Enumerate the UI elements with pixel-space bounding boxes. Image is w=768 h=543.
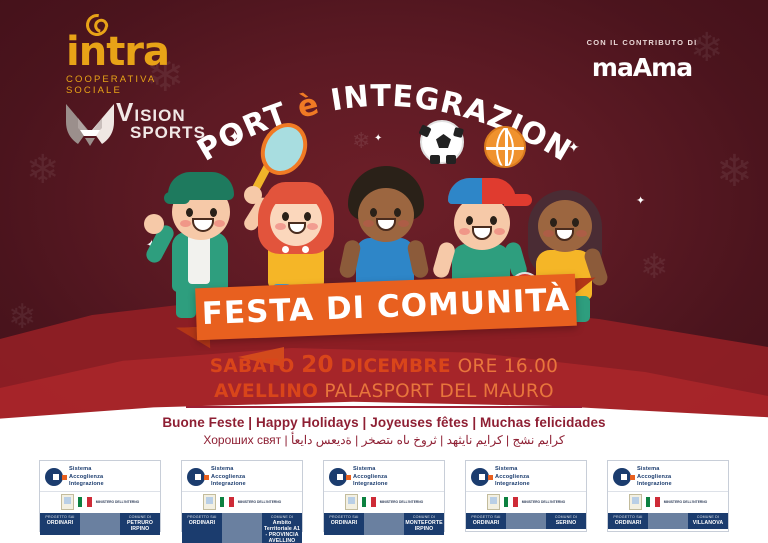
child-4-head xyxy=(454,196,510,250)
sai-card-footer: PROGETTO SAI ORDINARI COMUNE DI SERINO xyxy=(466,513,586,530)
sai-logo-icon xyxy=(329,468,349,488)
sai-project-value: ORDINARI xyxy=(325,520,363,526)
sai-project-label: PROGETTO SAI xyxy=(183,515,221,519)
sai-logo-icon xyxy=(613,468,633,488)
sai-title-2: Accoglienza xyxy=(211,474,246,482)
sai-comune-value: MONTEFORTE IRPINO xyxy=(405,520,443,532)
sai-comune-label: COMUNE DI xyxy=(121,515,159,519)
sai-comune-value: PETRURO IRPINO xyxy=(121,520,159,532)
child-1-beret-brim xyxy=(164,192,190,204)
child-1-eye xyxy=(210,208,217,217)
event-poster: ❄ ❄ ❄ ❄ ❄ ❄ ❄ ✦ ✦ ✦ ✦ ✦ intra COOPERATIV… xyxy=(0,0,768,543)
sai-comune-value: Ambito Territoriale A1 - PROVINCIA AVELL… xyxy=(263,520,301,543)
ministry-label: MINISTERO DELL'INTERNO xyxy=(380,500,423,504)
greetings-divider xyxy=(186,406,582,408)
certificate-icon xyxy=(61,494,74,510)
sai-comune-cell: COMUNE DI VILLANOVA xyxy=(688,513,728,530)
sai-title-2: Accoglienza xyxy=(637,474,672,482)
sai-comune-label: COMUNE DI xyxy=(547,515,585,519)
child-2-cheek xyxy=(307,223,318,230)
event-date-number: 20 xyxy=(301,352,334,378)
child-3-head xyxy=(358,188,414,242)
sai-card-emblems: MINISTERO DELL'INTERNO xyxy=(608,491,728,513)
sai-title-3: Integrazione xyxy=(353,481,388,489)
child-3-cheek xyxy=(363,220,374,227)
child-1-cheek xyxy=(180,220,191,227)
snowflake-icon: ❄ xyxy=(716,150,753,194)
sai-card: Sistema Accoglienza Integrazione MINISTE… xyxy=(181,460,303,532)
sai-project-cell: PROGETTO SAI ORDINARI xyxy=(324,513,364,536)
child-5-head xyxy=(538,200,592,252)
child-2-cheek xyxy=(275,223,286,230)
snowflake-icon: ❄ xyxy=(640,250,669,284)
child-1-shirt-panel xyxy=(188,234,210,284)
sai-card-emblems: MINISTERO DELL'INTERNO xyxy=(466,491,586,513)
star-icon: ✦ xyxy=(636,196,645,207)
soccer-ball-icon xyxy=(420,120,464,164)
italy-flag-icon xyxy=(504,497,518,507)
sai-title-1: Sistema xyxy=(69,466,104,474)
sai-card-title: Sistema Accoglienza Integrazione xyxy=(495,466,530,489)
sai-comune-cell: COMUNE DI PETRURO IRPINO xyxy=(120,513,160,536)
sai-project-value: ORDINARI xyxy=(183,520,221,526)
sai-card-header: Sistema Accoglienza Integrazione xyxy=(40,461,160,491)
sai-card-footer: PROGETTO SAI ORDINARI COMUNE DI Ambito T… xyxy=(182,513,302,543)
child-3-eye xyxy=(394,208,401,217)
child-5-eye xyxy=(550,218,557,227)
sai-card-header: Sistema Accoglienza Integrazione xyxy=(466,461,586,491)
sai-project-label: PROGETTO SAI xyxy=(609,515,647,519)
child-4-eye xyxy=(490,216,497,225)
sai-card: Sistema Accoglienza Integrazione MINISTE… xyxy=(465,460,587,532)
sai-comune-label: COMUNE DI xyxy=(689,515,727,519)
sai-project-cell: PROGETTO SAI ORDINARI xyxy=(608,513,648,530)
sai-comune-cell: COMUNE DI MONTEFORTE IRPINO xyxy=(404,513,444,536)
child-5-cheek xyxy=(543,230,554,237)
snowflake-icon: ❄ xyxy=(8,300,37,334)
sai-card: Sistema Accoglienza Integrazione MINISTE… xyxy=(39,460,161,532)
sai-title-3: Integrazione xyxy=(69,481,104,489)
event-date-line: SABATO 20 DICEMBRE ORE 16.00 xyxy=(0,352,768,378)
sai-project-cell: PROGETTO SAI ORDINARI xyxy=(466,513,506,530)
child-4-cheek xyxy=(459,228,470,235)
greetings-latin: Buone Feste | Happy Holidays | Joyeuses … xyxy=(0,415,768,430)
ministry-label: MINISTERO DELL'INTERNO xyxy=(96,500,139,504)
sai-title-3: Integrazione xyxy=(637,481,672,489)
event-venue: PALASPORT DEL MAURO xyxy=(318,381,554,402)
sai-card-title: Sistema Accoglienza Integrazione xyxy=(353,466,388,489)
sai-card: Sistema Accoglienza Integrazione MINISTE… xyxy=(323,460,445,532)
sai-card-header: Sistema Accoglienza Integrazione xyxy=(608,461,728,491)
sai-title-1: Sistema xyxy=(637,466,672,474)
sai-project-label: PROGETTO SAI xyxy=(41,515,79,519)
sai-title-2: Accoglienza xyxy=(69,474,104,482)
basketball-icon xyxy=(484,126,526,168)
event-details: SABATO 20 DICEMBRE ORE 16.00 AVELLINO PA… xyxy=(0,352,768,402)
sai-logo-icon xyxy=(187,468,207,488)
certificate-icon xyxy=(487,494,500,510)
child-2-eye xyxy=(304,212,311,221)
sai-comune-cell: COMUNE DI Ambito Territoriale A1 - PROVI… xyxy=(262,513,302,543)
sai-title-1: Sistema xyxy=(495,466,530,474)
child-5-cheek xyxy=(576,230,587,237)
sai-project-value: ORDINARI xyxy=(609,520,647,526)
sai-title-3: Integrazione xyxy=(211,481,246,489)
italy-flag-icon xyxy=(220,497,234,507)
sai-title-3: Integrazione xyxy=(495,481,530,489)
sai-comune-label: COMUNE DI xyxy=(263,515,301,519)
child-1-cheek xyxy=(214,220,225,227)
sai-title-2: Accoglienza xyxy=(495,474,530,482)
event-day: SABATO xyxy=(210,356,302,377)
event-venue-line: AVELLINO PALASPORT DEL MAURO xyxy=(0,381,768,402)
event-city: AVELLINO xyxy=(214,381,318,402)
sai-card-emblems: MINISTERO DELL'INTERNO xyxy=(182,491,302,513)
sai-comune-value: VILLANOVA xyxy=(689,520,727,526)
child-4-cheek xyxy=(494,228,505,235)
sai-card: Sistema Accoglienza Integrazione MINISTE… xyxy=(607,460,729,532)
sai-comune-cell: COMUNE DI SERINO xyxy=(546,513,586,530)
sai-project-label: PROGETTO SAI xyxy=(325,515,363,519)
sai-card-header: Sistema Accoglienza Integrazione xyxy=(182,461,302,491)
child-1-eye xyxy=(186,208,193,217)
certificate-icon xyxy=(629,494,642,510)
italy-flag-icon xyxy=(362,497,376,507)
sai-project-value: ORDINARI xyxy=(467,520,505,526)
italy-flag-icon xyxy=(646,497,660,507)
child-2-hand xyxy=(244,186,262,204)
sai-card-footer: PROGETTO SAI ORDINARI COMUNE DI PETRURO … xyxy=(40,513,160,536)
sai-title-1: Sistema xyxy=(353,466,388,474)
sai-logo-icon xyxy=(471,468,491,488)
sai-card-footer: PROGETTO SAI ORDINARI COMUNE DI MONTEFOR… xyxy=(324,513,444,536)
greetings-block: Buone Feste | Happy Holidays | Joyeuses … xyxy=(0,415,768,447)
sai-card-header: Sistema Accoglienza Integrazione xyxy=(324,461,444,491)
sai-project-value: ORDINARI xyxy=(41,520,79,526)
child-2-button xyxy=(282,246,289,253)
event-month: DICEMBRE xyxy=(334,356,458,377)
sai-card-footer: PROGETTO SAI ORDINARI COMUNE DI VILLANOV… xyxy=(608,513,728,530)
child-4-eye xyxy=(466,216,473,225)
sai-card-emblems: MINISTERO DELL'INTERNO xyxy=(40,491,160,513)
certificate-icon xyxy=(345,494,358,510)
child-2-button xyxy=(302,246,309,253)
sai-comune-label: COMUNE DI xyxy=(405,515,443,519)
ministry-label: MINISTERO DELL'INTERNO xyxy=(664,500,707,504)
sai-card-title: Sistema Accoglienza Integrazione xyxy=(211,466,246,489)
child-4-cap-panel xyxy=(448,178,482,204)
sai-project-label: PROGETTO SAI xyxy=(467,515,505,519)
sai-title-1: Sistema xyxy=(211,466,246,474)
child-3-eye xyxy=(370,208,377,217)
italy-flag-icon xyxy=(78,497,92,507)
child-1-leg xyxy=(176,286,196,318)
child-2-bangs xyxy=(266,182,326,204)
sai-card-title: Sistema Accoglienza Integrazione xyxy=(69,466,104,489)
ministry-label: MINISTERO DELL'INTERNO xyxy=(522,500,565,504)
greetings-other-scripts: كرايم نشج | كرايم نايثهد | ثروخ ىاه ىتصخ… xyxy=(0,433,768,447)
sai-logo-icon xyxy=(45,468,65,488)
sai-card-title: Sistema Accoglienza Integrazione xyxy=(637,466,672,489)
sai-card-emblems: MINISTERO DELL'INTERNO xyxy=(324,491,444,513)
sai-title-2: Accoglienza xyxy=(353,474,388,482)
sai-logo-cards: Sistema Accoglienza Integrazione MINISTE… xyxy=(0,460,768,532)
certificate-icon xyxy=(203,494,216,510)
sai-project-cell: PROGETTO SAI ORDINARI xyxy=(40,513,80,536)
sai-project-cell: PROGETTO SAI ORDINARI xyxy=(182,513,222,543)
child-1-hand xyxy=(144,214,164,234)
child-2-eye xyxy=(282,212,289,221)
sai-comune-value: SERINO xyxy=(547,520,585,526)
snowflake-icon: ❄ xyxy=(26,150,60,190)
child-3-cheek xyxy=(398,220,409,227)
event-time: ORE 16.00 xyxy=(458,356,559,377)
child-5-eye xyxy=(572,218,579,227)
ministry-label: MINISTERO DELL'INTERNO xyxy=(238,500,281,504)
